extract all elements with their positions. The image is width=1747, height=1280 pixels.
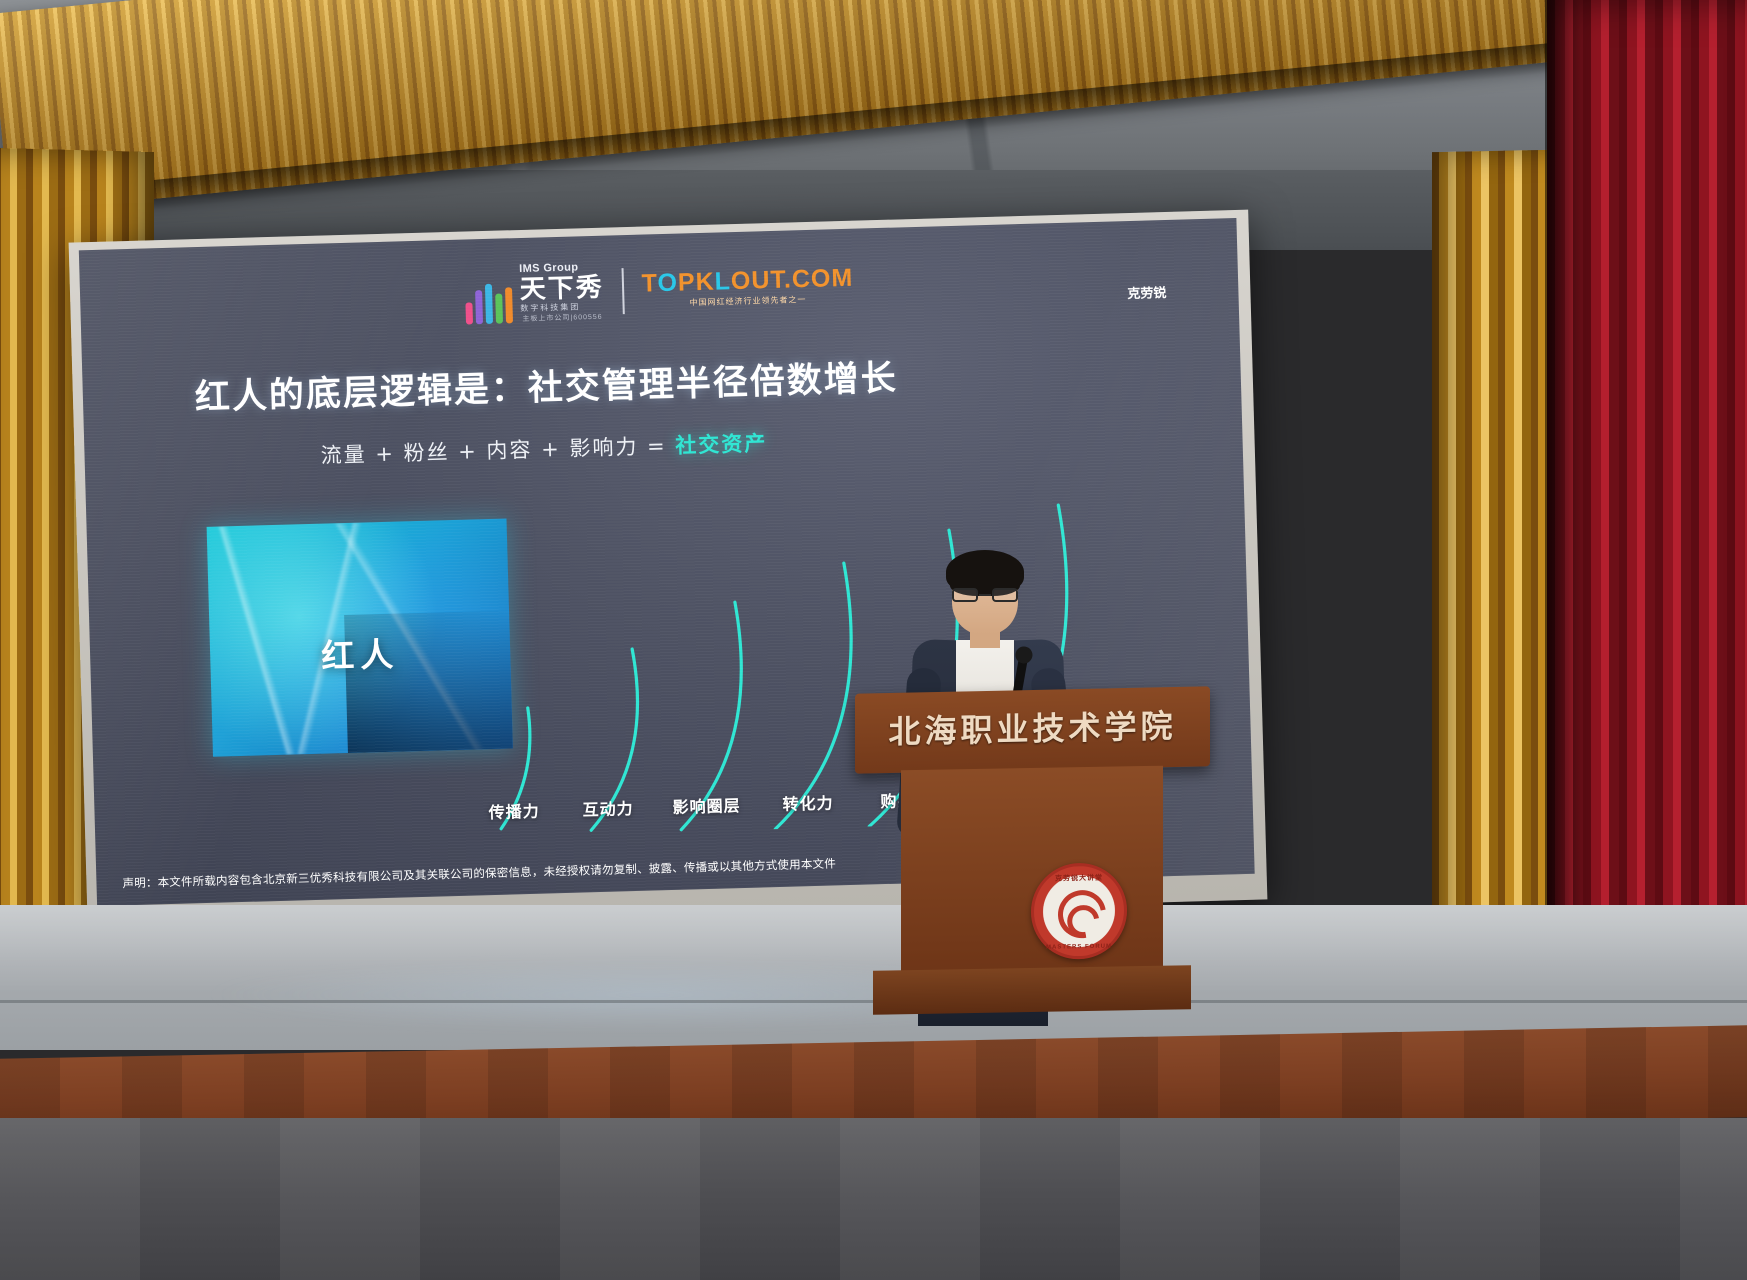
arc-label-2: 互动力 [582, 795, 634, 820]
video-thumbnail: 红人 [207, 518, 513, 756]
ims-group-logo: IMS Group 天下秀 数字科技集团 主板上市公司|600556 [464, 262, 605, 325]
slide-title: 红人的底层逻辑是：社交管理半径倍数增长 [194, 350, 898, 421]
bars-icon [465, 283, 513, 324]
video-card-label: 红人 [210, 624, 511, 680]
forum-emblem: 克劳锐大讲堂 MASTERS FORUM [1031, 862, 1127, 960]
topklout-cn-name: 克劳锐 [1127, 282, 1167, 302]
topklout-logo: TOPKLOUT.COM 中国网红经济行业领先者之一 [641, 265, 854, 309]
topklout-wordmark: TOPKLOUT.COM [641, 265, 853, 296]
podium-base [873, 965, 1191, 1015]
arc-label-4: 转化力 [782, 789, 834, 814]
emblem-swirl-icon [1049, 881, 1116, 948]
stage-scene: IMS Group 天下秀 数字科技集团 主板上市公司|600556 TOPKL… [0, 0, 1747, 1280]
ims-logo-sub: 数字科技集团 [520, 303, 604, 313]
podium-institution-name: 北海职业技术学院 [855, 700, 1210, 753]
logo-divider [621, 268, 624, 314]
foreground-floor [0, 1118, 1747, 1280]
subtitle-accent: 社交资产 [675, 431, 768, 458]
subtitle-prefix: 流量 + 粉丝 + 内容 + 影响力 = [320, 434, 675, 468]
emblem-top-text: 克劳锐大讲堂 [1034, 872, 1124, 884]
curtain-red [1547, 0, 1747, 1010]
ims-logo-code: 主板上市公司|600556 [520, 314, 604, 323]
glasses-icon [952, 588, 1018, 603]
podium: 北海职业技术学院 克劳锐大讲堂 MASTERS FORUM [855, 690, 1210, 1020]
arc-label-3: 影响圈层 [672, 792, 741, 818]
podium-body: 克劳锐大讲堂 MASTERS FORUM [901, 766, 1163, 976]
slide-disclaimer: 声明：本文件所载内容包含北京新三优秀科技有限公司及其关联公司的保密信息，未经授权… [122, 855, 836, 891]
emblem-bottom-text: MASTERS FORUM [1034, 943, 1124, 951]
podium-top: 北海职业技术学院 [855, 686, 1210, 773]
topklout-tagline: 中国网红经济行业领先者之一 [689, 294, 806, 308]
slide-header: IMS Group 天下秀 数字科技集团 主板上市公司|600556 TOPKL… [80, 244, 1239, 335]
ims-logo-cn: 天下秀 [519, 275, 604, 303]
arc-label-1: 传播力 [488, 798, 540, 823]
slide-subtitle: 流量 + 粉丝 + 内容 + 影响力 = 社交资产 [320, 427, 767, 469]
